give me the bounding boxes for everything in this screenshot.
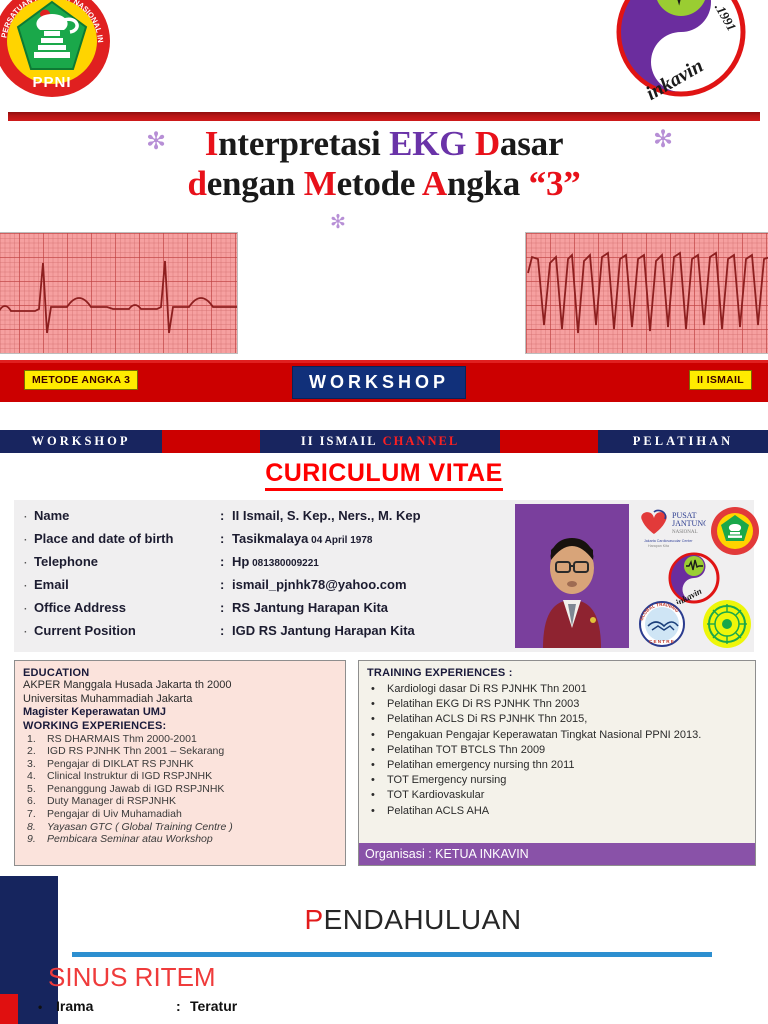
list-item: •Pelatihan EKG Di RS PJNHK Thn 2003 [367, 697, 747, 712]
title-underline-rule [72, 952, 712, 957]
cv-row-colon: : [220, 577, 232, 592]
list-item-text: Duty Manager di RSPJNHK [47, 795, 176, 808]
list-item: •Pengakuan Pengajar Keperawatan Tingkat … [367, 728, 747, 743]
global-training-centre-logo: GLOBAL TRAINING CENTRE [634, 600, 690, 648]
list-item-text: Pelatihan emergency nursing thn 2011 [387, 758, 575, 773]
page-title-rest: ENDAHULUAN [324, 904, 522, 935]
pusat-jantung-nasional-logo: PUSAT JANTUNG NASIONAL Jakarta Cardiovas… [634, 506, 706, 550]
list-item-text: Pengajar di Uiv Muhamadiah [47, 808, 182, 821]
cv-row-value: Hp 081380009221 [232, 554, 319, 569]
cv-row-value: Tasikmalaya 04 April 1978 [232, 531, 373, 546]
title-run-5: ngka [447, 164, 529, 203]
bullet-icon: • [367, 712, 387, 727]
title-line-2: dengan Metode Angka “3” [0, 164, 768, 204]
list-item: 6.Duty Manager di RSPJNHK [23, 795, 337, 808]
svg-text:inkavin: inkavin [642, 55, 707, 105]
band-channel-word: CHANNEL [383, 434, 460, 449]
list-item-text: Pembicara Seminar atau Workshop [47, 833, 213, 846]
cv-row-bullet: · [24, 558, 34, 569]
slide-title: PPNI PERSATUAN PERAWAT NASIONAL INDONESI… [0, 0, 768, 402]
cv-row-value: ismail_pjnhk78@yahoo.com [232, 577, 407, 592]
list-item-text: TOT Emergency nursing [387, 773, 506, 788]
list-item-text: IGD RS PJNHK Thn 2001 – Sekarang [47, 745, 224, 758]
list-item: •TOT Emergency nursing [367, 773, 747, 788]
cv-row-bullet: · [24, 627, 34, 638]
bullet-label: Irama [56, 998, 176, 1014]
cv-row-value-small: 081380009221 [249, 558, 319, 569]
title-run-3: D [475, 124, 500, 163]
cv-row-label: Name [34, 508, 220, 523]
title-run-3: etode [337, 164, 422, 203]
sinus-rhythm-ecg-strip [0, 232, 238, 354]
list-item-number: 5. [23, 783, 47, 796]
list-item-number: 4. [23, 770, 47, 783]
working-experiences-heading: WORKING EXPERIENCES: [23, 720, 337, 732]
yayasan-logo [696, 598, 758, 650]
list-item: •Pelatihan emergency nursing thn 2011 [367, 758, 747, 773]
cv-row: ·Telephone:Hp 081380009221 [24, 554, 494, 577]
cv-row-value-small: 04 April 1978 [308, 535, 372, 546]
page-title: PENDAHULUAN [58, 904, 768, 936]
education-heading: EDUCATION [23, 667, 337, 679]
affiliation-logos: PUSAT JANTUNG NASIONAL Jakarta Cardiovas… [634, 504, 764, 648]
list-item-text: RS DHARMAIS Thm 2000-2001 [47, 733, 197, 746]
list-item: 1.RS DHARMAIS Thm 2000-2001 [23, 733, 337, 746]
list-item-text: TOT Kardiovaskular [387, 788, 484, 803]
band-channel-name: II ISMAIL [301, 434, 378, 449]
cv-row: ·Place and date of birth:Tasikmalaya 04 … [24, 531, 494, 554]
cv-detail-rows: ·Name:II Ismail, S. Kep., Ners., M. Kep·… [24, 508, 494, 646]
svg-text:Jakarta Cardiovascular Center: Jakarta Cardiovascular Center [644, 539, 693, 543]
cv-row: ·Current Position:IGD RS Jantung Harapan… [24, 623, 494, 646]
cv-row-value: IGD RS Jantung Harapan Kita [232, 623, 415, 638]
tachycardia-ecg-strip [525, 232, 768, 354]
list-item-text: Clinical Instruktur di IGD RSPJNHK [47, 770, 212, 783]
bullet-icon: • [367, 728, 387, 743]
footer-tag-metode: METODE ANGKA 3 [24, 370, 138, 390]
title-run-0: I [205, 124, 218, 163]
title-run-4: asar [500, 124, 563, 163]
cv-row-label: Place and date of birth [34, 531, 220, 546]
education-line-2: Universitas Muhammadiah Jakarta [23, 693, 337, 707]
title-run-4: A [422, 164, 447, 203]
cv-row-colon: : [220, 554, 232, 569]
bullet-icon: • [367, 682, 387, 697]
cv-heading: CURICULUM VITAE [0, 459, 768, 488]
list-item-number: 7. [23, 808, 47, 821]
band-label-channel: II ISMAIL CHANNEL [260, 430, 500, 453]
cv-row-value: RS Jantung Harapan Kita [232, 600, 388, 615]
list-item: •Pelatihan ACLS Di RS PJNHK Thn 2015, [367, 712, 747, 727]
cv-row-value: II Ismail, S. Kep., Ners., M. Kep [232, 508, 421, 523]
list-item-number: 6. [23, 795, 47, 808]
list-item-number: 9. [23, 833, 47, 846]
list-item: 7.Pengajar di Uiv Muhamadiah [23, 808, 337, 821]
education-box: EDUCATION AKPER Manggala Husada Jakarta … [14, 660, 346, 866]
svg-text:Harapan Kita: Harapan Kita [648, 544, 669, 548]
list-item: 8.Yayasan GTC ( Global Training Centre ) [23, 821, 337, 834]
cv-row-colon: : [220, 531, 232, 546]
list-item-text: Pelatihan ACLS AHA [387, 804, 489, 819]
slide-pendahuluan: PENDAHULUAN SINUS RITEM • Irama : Teratu… [0, 876, 768, 1024]
list-item: 3.Pengajar di DIKLAT RS PJNHK [23, 758, 337, 771]
list-item: 2.IGD RS PJNHK Thn 2001 – Sekarang [23, 745, 337, 758]
presentation-title: Interpretasi EKG Dasar dengan Metode Ang… [0, 124, 768, 204]
cv-row-label: Current Position [34, 623, 220, 638]
list-item-text: Yayasan GTC ( Global Training Centre ) [47, 821, 233, 834]
training-list: •Kardiologi dasar Di RS PJNHK Thn 2001•P… [367, 682, 747, 819]
svg-text:JANTUNG: JANTUNG [672, 519, 706, 528]
title-line-1: Interpretasi EKG Dasar [0, 124, 768, 164]
bullet-icon: • [367, 697, 387, 712]
cv-details-card: ·Name:II Ismail, S. Kep., Ners., M. Kep·… [14, 500, 754, 652]
svg-text:PPNI: PPNI [32, 74, 71, 91]
list-item: •Kardiologi dasar Di RS PJNHK Thn 2001 [367, 682, 747, 697]
cv-row-bullet: · [24, 581, 34, 592]
list-item-number: 1. [23, 733, 47, 746]
cv-row: ·Email:ismail_pjnhk78@yahoo.com [24, 577, 494, 600]
list-item-text: Pelatihan ACLS Di RS PJNHK Thn 2015, [387, 712, 587, 727]
band-label-workshop: WORKSHOP [0, 430, 162, 453]
cv-row-label: Office Address [34, 600, 220, 615]
title-run-2: M [304, 164, 337, 203]
list-item: 5.Penanggung Jawab di IGD RSPJNHK [23, 783, 337, 796]
education-line-1: AKPER Manggala Husada Jakarta th 2000 [23, 679, 337, 693]
sparkle-icon-bottom: ✻ [330, 213, 346, 232]
title-run-2: EKG [389, 124, 475, 163]
ppni-logo: PPNI PERSATUAN PERAWAT NASIONAL INDONESI… [0, 0, 124, 104]
bullet-colon: : [176, 998, 190, 1014]
page-title-initial: P [304, 904, 323, 935]
title-run-0: d [187, 164, 206, 203]
list-item-number: 2. [23, 745, 47, 758]
bullet-row-irama: • Irama : Teratur [38, 998, 237, 1014]
bullet-icon: • [367, 758, 387, 773]
list-item-text: Pengakuan Pengajar Keperawatan Tingkat N… [387, 728, 701, 743]
list-item-text: Pengajar di DIKLAT RS PJNHK [47, 758, 194, 771]
footer-tag-presenter: II ISMAIL [689, 370, 752, 390]
working-experiences-list: 1.RS DHARMAIS Thm 2000-20012.IGD RS PJNH… [23, 733, 337, 846]
cv-row: ·Name:II Ismail, S. Kep., Ners., M. Kep [24, 508, 494, 531]
cv-row-colon: : [220, 508, 232, 523]
organisation-bar: Organisasi : KETUA INKAVIN [359, 843, 755, 865]
footer-bar-highlight [0, 360, 768, 363]
title-run-1: engan [207, 164, 304, 203]
inkavin-logo: inkavin .1991 [616, 0, 746, 105]
svg-text:CENTRE: CENTRE [649, 639, 675, 644]
cv-row-colon: : [220, 623, 232, 638]
footer-workshop-badge: WORKSHOP [292, 366, 466, 399]
bullet-icon: • [367, 804, 387, 819]
list-item: •TOT Kardiovaskular [367, 788, 747, 803]
band-label-pelatihan: PELATIHAN [598, 430, 768, 453]
section-heading-sinus-ritem: SINUS RITEM [48, 962, 216, 993]
bullet-icon: • [367, 788, 387, 803]
list-item: 9.Pembicara Seminar atau Workshop [23, 833, 337, 846]
cv-row-bullet: · [24, 512, 34, 523]
inkavin-logo-small: inkavin [664, 552, 724, 604]
training-box: TRAINING EXPERIENCES : •Kardiologi dasar… [358, 660, 756, 866]
cv-row-colon: : [220, 600, 232, 615]
bullet-icon: • [367, 743, 387, 758]
cv-row-label: Email [34, 577, 220, 592]
list-item-text: Penanggung Jawab di IGD RSPJNHK [47, 783, 224, 796]
title-run-6: “3” [529, 164, 581, 203]
bullet-icon: • [367, 773, 387, 788]
list-item: 4.Clinical Instruktur di IGD RSPJNHK [23, 770, 337, 783]
cv-row-bullet: · [24, 604, 34, 615]
list-item-number: 3. [23, 758, 47, 771]
list-item-text: Pelatihan TOT BTCLS Thn 2009 [387, 743, 545, 758]
title-run-1: nterpretasi [218, 124, 389, 163]
bullet-icon: • [38, 1000, 56, 1014]
ppni-logo-small [710, 506, 760, 556]
list-item: •Pelatihan TOT BTCLS Thn 2009 [367, 743, 747, 758]
cv-row-label: Telephone [34, 554, 220, 569]
title-divider-rule [8, 112, 760, 121]
slide-curriculum-vitae: WORKSHOP II ISMAIL CHANNEL PELATIHAN CUR… [0, 404, 768, 874]
training-heading: TRAINING EXPERIENCES : [367, 667, 747, 679]
slide3-red-chip [0, 994, 18, 1024]
list-item-text: Kardiologi dasar Di RS PJNHK Thn 2001 [387, 682, 587, 697]
list-item: •Pelatihan ACLS AHA [367, 804, 747, 819]
bullet-value: Teratur [190, 998, 237, 1014]
avatar [515, 504, 629, 648]
list-item-number: 8. [23, 821, 47, 834]
cv-row-bullet: · [24, 535, 34, 546]
svg-text:NASIONAL: NASIONAL [672, 530, 698, 535]
education-degree: Magister Keperawatan UMJ [23, 706, 337, 720]
list-item-text: Pelatihan EKG Di RS PJNHK Thn 2003 [387, 697, 579, 712]
cv-row: ·Office Address:RS Jantung Harapan Kita [24, 600, 494, 623]
